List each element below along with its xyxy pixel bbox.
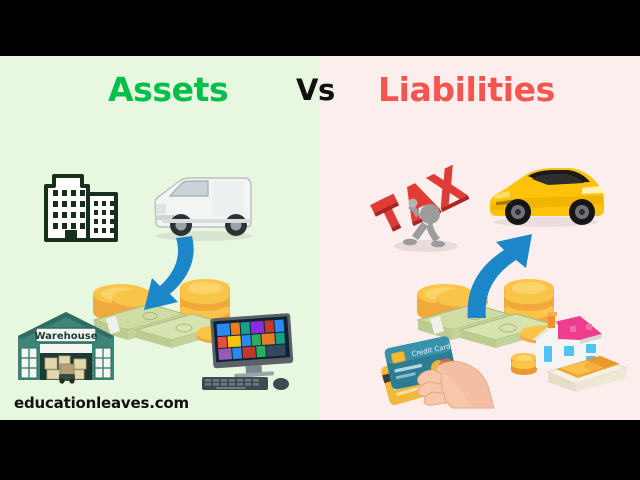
watermark-text: educationleaves.com (14, 394, 189, 412)
slide-canvas: Assets Vs Liabilities (0, 56, 640, 420)
delivery-van-icon (148, 160, 260, 242)
page-title-liabilities: Liabilities (378, 70, 555, 109)
bottom-letterbox (0, 420, 640, 480)
forklift-icon (59, 364, 75, 384)
warehouse-sign-text: Warehouse (35, 331, 98, 342)
page-title-vs: Vs (296, 73, 335, 107)
house-with-money-icon (508, 306, 628, 390)
sports-car-icon (484, 158, 608, 230)
desktop-computer-icon (196, 314, 304, 394)
warehouse-icon: Warehouse (14, 306, 118, 384)
top-letterbox (0, 0, 640, 56)
hand-with-credit-cards-icon: Credit Card (378, 308, 510, 412)
screenshot-stage: Assets Vs Liabilities (0, 0, 640, 480)
page-title-assets: Assets (108, 70, 228, 109)
